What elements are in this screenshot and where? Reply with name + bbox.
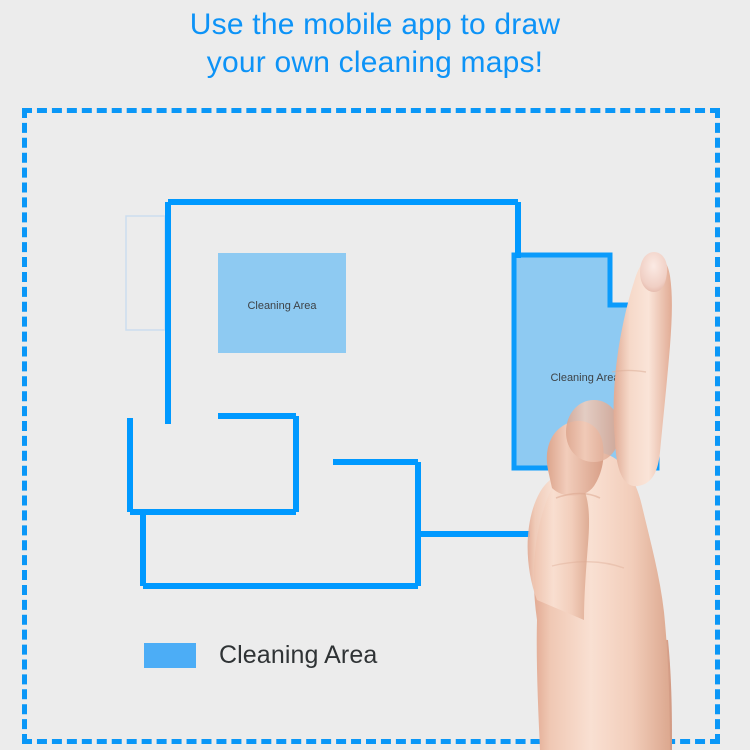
illustration-canvas: Use the mobile app to draw your own clea… [0,0,750,750]
legend-label: Cleaning Area [219,641,377,670]
legend-color-swatch [144,643,196,668]
legend: Cleaning Area [144,641,377,670]
cleaning-area-fills[interactable] [218,253,657,468]
right-cleaning-area-label: Cleaning Area [550,372,620,384]
left-cleaning-area-label: Cleaning Area [247,300,317,312]
floor-plan-map[interactable]: Cleaning Area Cleaning Area [0,0,750,750]
ghost-room-outline [126,216,165,330]
right-cleaning-area-fill[interactable] [514,255,657,468]
